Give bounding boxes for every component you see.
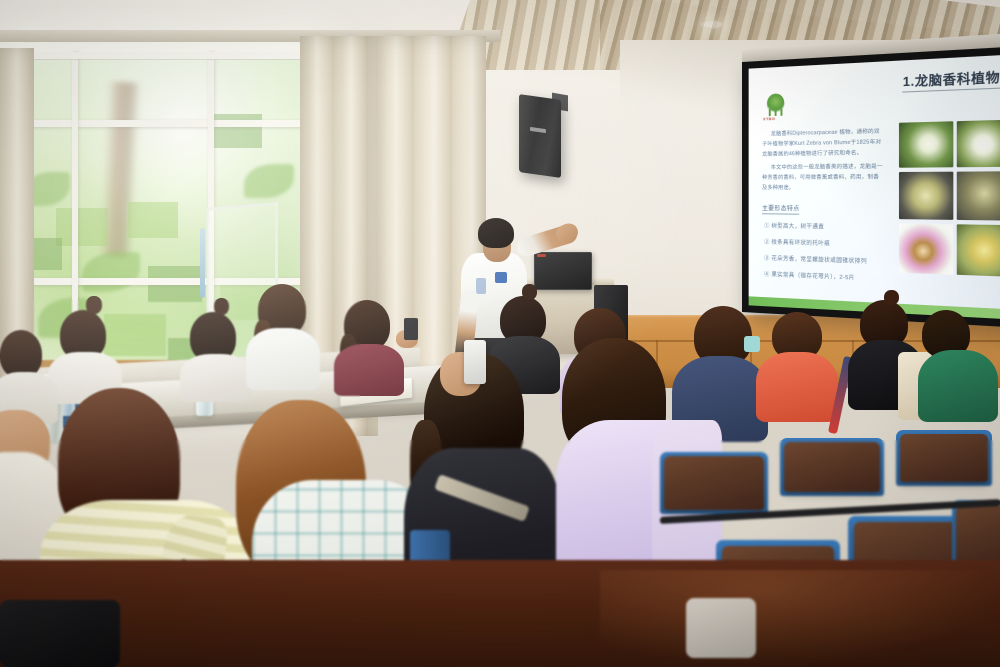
depth-of-field-overlay [0, 300, 360, 460]
loudspeaker-icon [519, 94, 561, 178]
attendee-torso [918, 350, 998, 422]
projection-screen[interactable]: 1.龙脑香科植物概 XTBG 龙脑香科Dipterocarpaceae 植物，通… [742, 46, 1000, 328]
slide-subheading: 主要形态特点 [762, 203, 800, 215]
smartphone[interactable] [404, 318, 418, 340]
yellow-flower-cluster-photo [956, 224, 1000, 277]
winged-fruit-photo [899, 223, 953, 274]
slide-bullet: ② 枝条具有环状的托叶痕 [764, 237, 830, 247]
slide-paragraph: 龙脑香科Dipterocarpaceae 植物，通称的双子叶植物学家Kurt Z… [762, 127, 884, 160]
presenter-hair [478, 218, 514, 248]
tree-trunk-icon [775, 107, 777, 116]
slide-bullet: ④ 果实常具（宿存花萼片），2-5片 [764, 270, 855, 282]
floor-reflection [600, 570, 1000, 667]
bag [686, 598, 756, 658]
white-star-flower-photo [956, 120, 1000, 168]
tree-trunk-icon [769, 109, 771, 116]
hair-bun [884, 290, 899, 305]
lecture-hall-scene: 1.龙脑香科植物概 XTBG 龙脑香科Dipterocarpaceae 植物，通… [0, 0, 1000, 667]
tshirt-print [476, 278, 486, 294]
tree-trunk-icon [780, 109, 782, 116]
slide-photo-grid [899, 120, 1000, 282]
photo-row [899, 120, 1000, 168]
cup[interactable] [744, 336, 760, 352]
chair-back[interactable] [784, 442, 880, 492]
hair-bun [522, 284, 537, 300]
xtbg-logo-icon: XTBG [761, 93, 790, 126]
presentation-slide: 1.龙脑香科植物概 XTBG 龙脑香科Dipterocarpaceae 植物，通… [749, 54, 1000, 320]
slide-paragraph: 本文中的这些一般龙脑香类的描述，龙脑是一种芳香的香料，可用做香薰或香料、药用，制… [762, 163, 884, 194]
dried-flower-photo [956, 171, 1000, 220]
photo-row [899, 223, 1000, 276]
laptop-icon[interactable] [534, 252, 592, 290]
slide-bullet: ③ 花朵芳香，常呈螺旋状或圆锥状排列 [764, 254, 867, 266]
chair-back[interactable] [664, 456, 764, 510]
slide-body-text: 龙脑香科Dipterocarpaceae 植物，通称的双子叶植物学家Kurt Z… [762, 127, 884, 198]
smartphone[interactable] [464, 340, 486, 384]
slide-title: 1.龙脑香科植物概 [903, 67, 1000, 93]
laptop-brand-badge [537, 254, 546, 257]
yellow-petal-flower-photo [899, 172, 953, 220]
photo-row [899, 171, 1000, 220]
downlight-icon [700, 20, 724, 29]
tshirt-logo [495, 272, 507, 283]
white-flower-photo [899, 121, 953, 167]
slide-bullet: ① 树型高大，树干通直 [764, 221, 824, 230]
screen-border: 1.龙脑香科植物概 XTBG 龙脑香科Dipterocarpaceae 植物，通… [742, 46, 1000, 328]
logo-wordmark: XTBG [763, 116, 775, 121]
attendee-torso [756, 352, 838, 422]
bag [0, 600, 120, 667]
chair-back[interactable] [900, 434, 988, 482]
